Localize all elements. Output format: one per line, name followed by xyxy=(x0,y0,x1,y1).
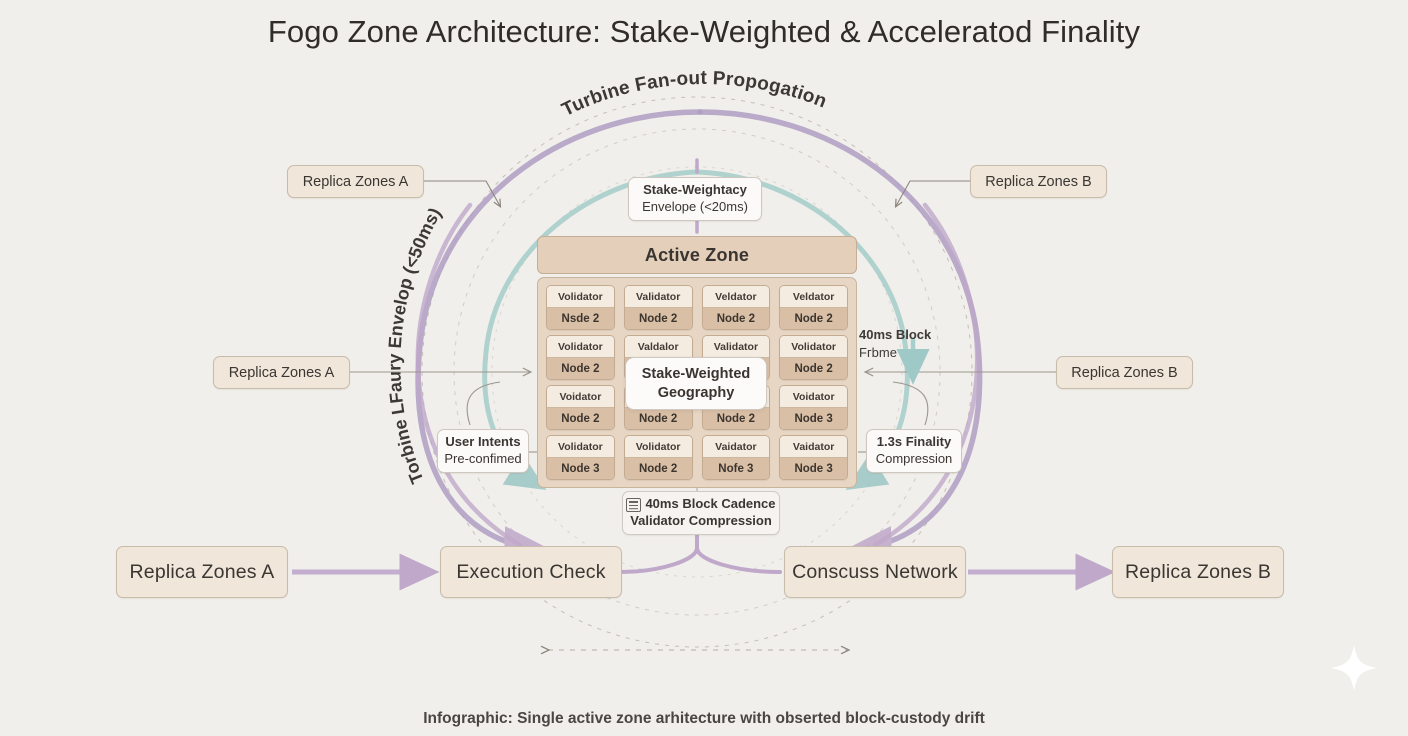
validator-card-title: Volidator xyxy=(625,436,692,458)
user-intents-line1: User Intents xyxy=(445,434,520,451)
validator-card-node: Node 2 xyxy=(703,308,770,329)
validator-card-node: Node 2 xyxy=(547,408,614,429)
validator-card[interactable]: VeldatorNode 2 xyxy=(702,285,771,330)
page-title: Fogo Zone Architecture: Stake-Weighted &… xyxy=(0,14,1408,50)
replica-zones-a-mid[interactable]: Replica Zones A xyxy=(213,356,350,389)
validator-card[interactable]: VeldatorNode 2 xyxy=(779,285,848,330)
validator-card-title: Valdalor xyxy=(625,336,692,358)
stake-envelope-callout[interactable]: Stake-Weightacy Envelope (<20ms) xyxy=(628,177,762,221)
execution-check-label: Execution Check xyxy=(456,561,605,584)
validator-card-node: Node 3 xyxy=(547,458,614,479)
center-callout-line2: Geography xyxy=(658,384,735,402)
replica-zones-b-top-label: Replica Zones B xyxy=(985,174,1091,190)
validator-card[interactable]: VoidatorNode 2 xyxy=(546,385,615,430)
stake-envelope-line2: Envelope (<20ms) xyxy=(642,199,748,216)
active-zone-header: Active Zone xyxy=(537,236,857,274)
block-cadence-line2: Validator Compression xyxy=(630,513,772,530)
execution-check-node[interactable]: Execution Check xyxy=(440,546,622,598)
list-icon xyxy=(626,498,641,512)
sparkle-icon xyxy=(1328,642,1380,694)
active-zone-title: Active Zone xyxy=(645,245,749,266)
validator-card[interactable]: VolidatorNode 2 xyxy=(546,335,615,380)
replica-zones-a-mid-label: Replica Zones A xyxy=(229,365,335,381)
block-frame-line2: Fгbme xyxy=(859,344,931,362)
validator-card-title: Vaidator xyxy=(703,436,770,458)
validator-card-node: Node 3 xyxy=(780,408,847,429)
consensus-network-label: Conscuss Network xyxy=(792,561,958,584)
replica-zones-a-top-label: Replica Zones A xyxy=(303,174,409,190)
validator-card-title: Veldator xyxy=(703,286,770,308)
validator-card-title: Validator xyxy=(703,336,770,358)
user-intents-line2: Pre-confimed xyxy=(444,451,521,468)
validator-card-node: Node 2 xyxy=(780,358,847,379)
validator-card[interactable]: VaidatorNofe 3 xyxy=(702,435,771,480)
user-intents-callout[interactable]: User Intents Pre-confimed xyxy=(437,429,529,473)
block-frame-label: 40ms Block Fгbme xyxy=(859,326,931,361)
replica-zones-b-mid-label: Replica Zones B xyxy=(1071,365,1177,381)
validator-card[interactable]: VaidatorNode 3 xyxy=(779,435,848,480)
validator-card-node: Node 2 xyxy=(625,308,692,329)
validator-card[interactable]: VolidatorNode 2 xyxy=(624,435,693,480)
page-subtitle: Infographic: Single active zone arhitect… xyxy=(0,710,1408,728)
stake-weighted-geography-callout[interactable]: Stake-Weighted Geography xyxy=(625,357,767,410)
validator-card-title: Volidator xyxy=(547,336,614,358)
validator-card-title: Veldator xyxy=(780,286,847,308)
validator-card-node: Nsde 2 xyxy=(547,308,614,329)
replica-zones-b-top[interactable]: Replica Zones B xyxy=(970,165,1107,198)
validator-card[interactable]: ValidatorNode 2 xyxy=(624,285,693,330)
finality-compression-callout[interactable]: 1.3s Finality Compression xyxy=(866,429,962,473)
center-callout-line1: Stake-Weighted xyxy=(642,365,751,383)
finality-line1: 1.3s Finality xyxy=(877,434,951,451)
validator-card-title: Volidator xyxy=(780,336,847,358)
validator-card-title: Volidator xyxy=(547,286,614,308)
validator-card-node: Node 3 xyxy=(780,458,847,479)
validator-card[interactable]: VolidatorNode 3 xyxy=(546,435,615,480)
replica-zones-b-mid[interactable]: Replica Zones B xyxy=(1056,356,1193,389)
replica-zones-a-bottom-label: Replica Zones A xyxy=(130,561,275,584)
consensus-network-node[interactable]: Conscuss Network xyxy=(784,546,966,598)
replica-zones-a-bottom[interactable]: Replica Zones A xyxy=(116,546,288,598)
validator-card-title: Volidator xyxy=(547,436,614,458)
validator-card-node: Node 2 xyxy=(780,308,847,329)
validator-card[interactable]: VolidatorNode 2 xyxy=(779,335,848,380)
block-cadence-callout[interactable]: 40ms Block Cadence Validator Compression xyxy=(622,491,780,535)
validator-card-title: Voidator xyxy=(547,386,614,408)
validator-card-node: Nofe 3 xyxy=(703,458,770,479)
validator-card-title: Vaidator xyxy=(780,436,847,458)
block-frame-line1: 40ms Block xyxy=(859,326,931,344)
validator-card[interactable]: VoidatorNode 3 xyxy=(779,385,848,430)
stake-envelope-line1: Stake-Weightacy xyxy=(643,182,747,199)
infographic-canvas: Turbine Fan-out Propogation Torbine LFau… xyxy=(0,0,1408,736)
validator-card-node: Node 2 xyxy=(703,408,770,429)
block-cadence-line1: 40ms Block Cadence xyxy=(645,496,775,513)
validator-card-title: Validator xyxy=(625,286,692,308)
finality-line2: Compression xyxy=(876,451,953,468)
validator-card-title: Voidator xyxy=(780,386,847,408)
replica-zones-a-top[interactable]: Replica Zones A xyxy=(287,165,424,198)
validator-card-node: Node 2 xyxy=(625,458,692,479)
replica-zones-b-bottom[interactable]: Replica Zones B xyxy=(1112,546,1284,598)
validator-card[interactable]: VolidatorNsde 2 xyxy=(546,285,615,330)
validator-card-node: Node 2 xyxy=(625,408,692,429)
replica-zones-b-bottom-label: Replica Zones B xyxy=(1125,561,1271,584)
validator-card-node: Node 2 xyxy=(547,358,614,379)
